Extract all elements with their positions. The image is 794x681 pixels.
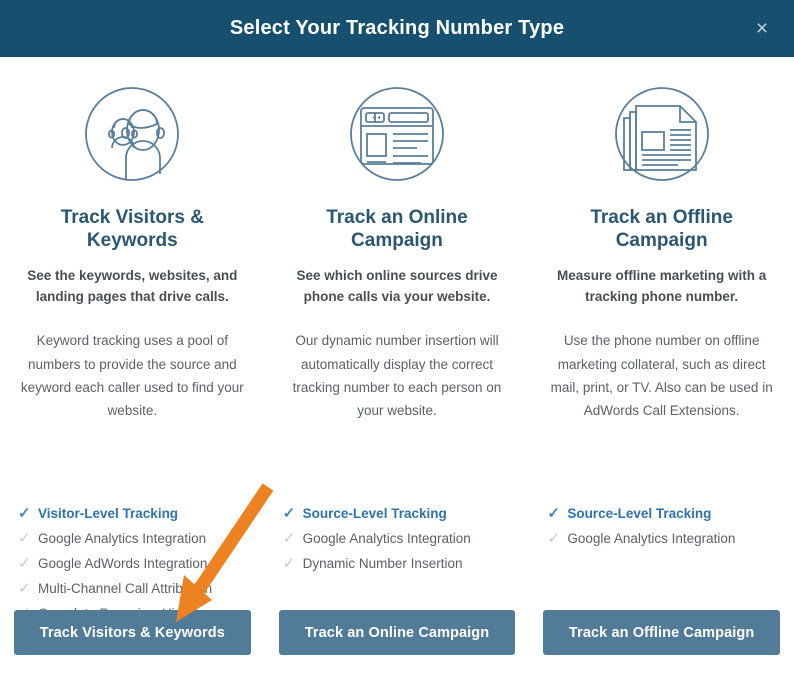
feature-label: Google Analytics Integration bbox=[303, 531, 471, 546]
option-title: Track an Online Campaign bbox=[279, 207, 516, 253]
modal-header: Select Your Tracking Number Type × bbox=[0, 0, 794, 57]
list-item: ✓ Google Analytics Integration bbox=[547, 526, 784, 551]
newspaper-document-circle-icon bbox=[543, 73, 780, 195]
check-icon: ✓ bbox=[18, 531, 38, 546]
check-icon: ✓ bbox=[547, 531, 567, 546]
check-icon: ✓ bbox=[283, 506, 303, 521]
feature-label: Source-Level Tracking bbox=[303, 506, 447, 521]
option-title: Track Visitors & Keywords bbox=[14, 207, 251, 253]
list-item: ✓ Dynamic Number Insertion bbox=[283, 551, 520, 576]
option-columns: Track Visitors & Keywords See the keywor… bbox=[0, 57, 794, 681]
modal-footer: Track Visitors & Keywords Track an Onlin… bbox=[0, 610, 794, 655]
list-item: ✓ Visitor-Level Tracking bbox=[18, 501, 255, 526]
check-icon: ✓ bbox=[283, 531, 303, 546]
feature-label: Google Analytics Integration bbox=[567, 531, 735, 546]
check-icon: ✓ bbox=[547, 506, 567, 521]
feature-list: ✓ Source-Level Tracking ✓ Google Analyti… bbox=[283, 501, 520, 576]
option-card-offline-campaign[interactable]: Track an Offline Campaign Measure offlin… bbox=[529, 57, 794, 681]
close-icon[interactable]: × bbox=[746, 13, 778, 45]
list-item: ✓ Google AdWords Integration bbox=[18, 551, 255, 576]
feature-label: Dynamic Number Insertion bbox=[303, 556, 463, 571]
check-icon: ✓ bbox=[18, 556, 38, 571]
feature-list: ✓ Source-Level Tracking ✓ Google Analyti… bbox=[547, 501, 784, 551]
browser-window-circle-icon bbox=[279, 73, 516, 195]
feature-label: Visitor-Level Tracking bbox=[38, 506, 178, 521]
button-cell: Track an Online Campaign bbox=[265, 610, 530, 655]
list-item: ✓ Multi-Channel Call Attribution bbox=[18, 576, 255, 601]
option-subtitle: See which online sources drive phone cal… bbox=[279, 266, 516, 308]
option-title: Track an Offline Campaign bbox=[543, 207, 780, 253]
feature-label: Multi-Channel Call Attribution bbox=[38, 581, 212, 596]
list-item: ✓ Source-Level Tracking bbox=[283, 501, 520, 526]
option-subtitle: Measure offline marketing with a trackin… bbox=[543, 266, 780, 308]
option-description: Use the phone number on offline marketin… bbox=[543, 329, 780, 422]
two-people-circle-icon bbox=[14, 73, 251, 195]
check-icon: ✓ bbox=[283, 556, 303, 571]
button-cell: Track an Offline Campaign bbox=[529, 610, 794, 655]
feature-label: Google Analytics Integration bbox=[38, 531, 206, 546]
list-item: ✓ Google Analytics Integration bbox=[18, 526, 255, 551]
option-description: Keyword tracking uses a pool of numbers … bbox=[14, 329, 251, 422]
list-item: ✓ Source-Level Tracking bbox=[547, 501, 784, 526]
track-online-campaign-button[interactable]: Track an Online Campaign bbox=[279, 610, 516, 655]
button-cell: Track Visitors & Keywords bbox=[0, 610, 265, 655]
check-icon: ✓ bbox=[18, 581, 38, 596]
option-card-visitors-keywords[interactable]: Track Visitors & Keywords See the keywor… bbox=[0, 57, 265, 681]
option-description: Our dynamic number insertion will automa… bbox=[279, 329, 516, 422]
feature-label: Google AdWords Integration bbox=[38, 556, 207, 571]
check-icon: ✓ bbox=[18, 506, 38, 521]
option-card-online-campaign[interactable]: Track an Online Campaign See which onlin… bbox=[265, 57, 530, 681]
list-item: ✓ Google Analytics Integration bbox=[283, 526, 520, 551]
feature-label: Source-Level Tracking bbox=[567, 506, 711, 521]
option-subtitle: See the keywords, websites, and landing … bbox=[14, 266, 251, 308]
page-title: Select Your Tracking Number Type bbox=[230, 17, 564, 40]
tracking-number-type-modal: Select Your Tracking Number Type × bbox=[0, 0, 794, 681]
track-visitors-keywords-button[interactable]: Track Visitors & Keywords bbox=[14, 610, 251, 655]
track-offline-campaign-button[interactable]: Track an Offline Campaign bbox=[543, 610, 780, 655]
